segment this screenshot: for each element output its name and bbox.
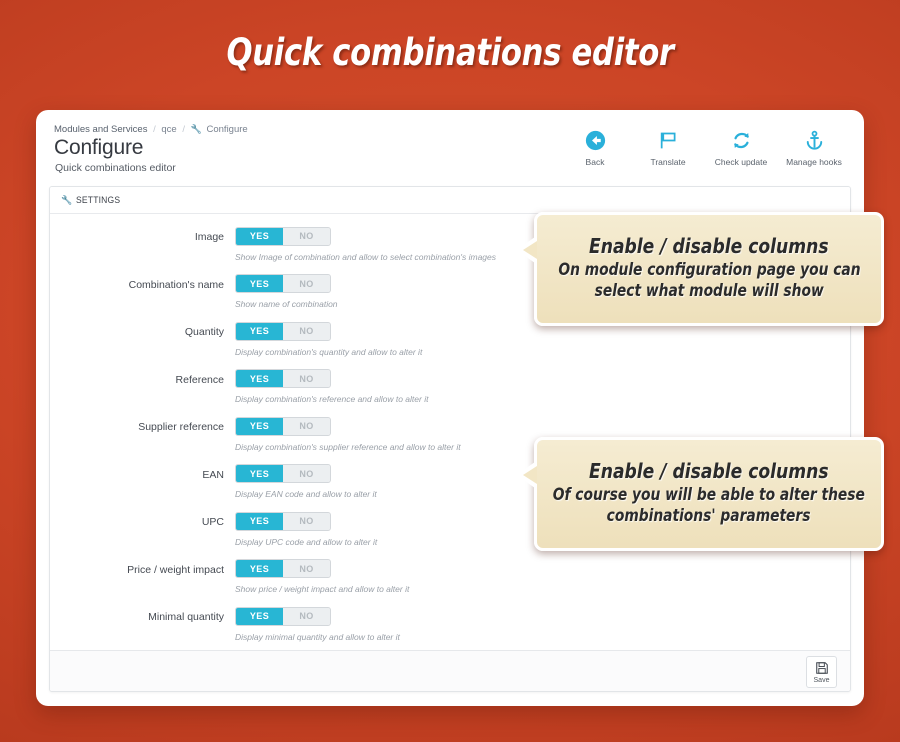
setting-label: Image <box>50 226 235 243</box>
setting-control: YES NO Display combination's reference a… <box>235 369 428 405</box>
save-button[interactable]: Save <box>806 656 837 688</box>
callout-line-1: Of course you will be able to alter thes… <box>553 484 865 505</box>
setting-row-quantity: Quantity YES NO Display combination's qu… <box>50 321 850 369</box>
page-subtitle: Quick combinations editor <box>55 162 176 174</box>
toggle-no-option[interactable]: NO <box>283 370 330 387</box>
breadcrumb-root[interactable]: Modules and Services <box>54 124 147 135</box>
toggle-no-option[interactable]: NO <box>283 560 330 577</box>
toggle-yes-option[interactable]: YES <box>236 608 283 625</box>
setting-row-price-weight-impact: Price / weight impact YES NO Show price … <box>50 559 850 607</box>
toggle-yes-option[interactable]: YES <box>236 370 283 387</box>
setting-control: YES NO Display combination's quantity an… <box>235 321 422 357</box>
setting-hint: Display combination's reference and allo… <box>235 394 428 404</box>
setting-control: YES NO Display UPC code and allow to alt… <box>235 511 377 547</box>
toggle-yes-option[interactable]: YES <box>236 275 283 292</box>
setting-label: Minimal quantity <box>50 606 235 623</box>
back-arrow-circle-icon <box>585 128 606 152</box>
banner: Quick combinations editor <box>0 0 900 104</box>
toggle-supplier-reference[interactable]: YES NO <box>235 417 331 436</box>
toolbar-translate-button[interactable]: Translate <box>640 128 696 167</box>
toolbar-translate-label: Translate <box>650 157 685 167</box>
setting-hint: Display combination's supplier reference… <box>235 442 461 452</box>
toolbar-back-label: Back <box>586 157 605 167</box>
toggle-no-option[interactable]: NO <box>283 513 330 530</box>
breadcrumb: Modules and Services / qce / 🔧 Configure <box>54 124 248 135</box>
setting-hint: Display combination's quantity and allow… <box>235 347 422 357</box>
callout-bubble-columns-alter: Enable / disable columns Of course you w… <box>534 437 884 551</box>
setting-hint: Display UPC code and allow to alter it <box>235 537 377 547</box>
settings-panel-title: SETTINGS <box>76 195 120 205</box>
toggle-no-option[interactable]: NO <box>283 323 330 340</box>
setting-control: YES NO Show Image of combination and all… <box>235 226 496 262</box>
setting-control: YES NO Display minimal quantity and allo… <box>235 606 400 642</box>
setting-hint: Show Image of combination and allow to s… <box>235 252 496 262</box>
callout-line-2: select what module will show <box>594 280 823 301</box>
setting-label: Supplier reference <box>50 416 235 433</box>
settings-panel-header: 🔧 SETTINGS <box>50 187 850 214</box>
toolbar-check-update-label: Check update <box>715 157 767 167</box>
toggle-image[interactable]: YES NO <box>235 227 331 246</box>
app-window-card: Modules and Services / qce / 🔧 Configure… <box>36 110 864 706</box>
refresh-sync-icon <box>731 128 752 152</box>
save-button-label: Save <box>814 677 830 684</box>
callout-line-2: combinations' parameters <box>607 505 811 526</box>
toggle-no-option[interactable]: NO <box>283 228 330 245</box>
setting-row-minimal-quantity: Minimal quantity YES NO Display minimal … <box>50 606 850 654</box>
toggle-yes-option[interactable]: YES <box>236 228 283 245</box>
setting-control: YES NO Display combination's supplier re… <box>235 416 461 452</box>
toolbar-check-update-button[interactable]: Check update <box>713 128 769 167</box>
toggle-upc[interactable]: YES NO <box>235 512 331 531</box>
breadcrumb-separator-2: / <box>182 124 185 135</box>
callout-line-1: On module configuration page you can <box>558 259 860 280</box>
toggle-yes-option[interactable]: YES <box>236 465 283 482</box>
breadcrumb-current: Configure <box>207 124 248 135</box>
setting-hint: Show price / weight impact and allow to … <box>235 584 409 594</box>
toggle-yes-option[interactable]: YES <box>236 513 283 530</box>
setting-label: UPC <box>50 511 235 528</box>
toggle-yes-option[interactable]: YES <box>236 418 283 435</box>
setting-control: YES NO Show name of combination <box>235 274 338 310</box>
toggle-no-option[interactable]: NO <box>283 275 330 292</box>
setting-control: YES NO Show price / weight impact and al… <box>235 559 409 595</box>
setting-hint: Display minimal quantity and allow to al… <box>235 632 400 642</box>
flag-icon <box>658 128 679 152</box>
setting-label: EAN <box>50 464 235 481</box>
toggle-ean[interactable]: YES NO <box>235 464 331 483</box>
wrench-icon: 🔧 <box>191 124 202 134</box>
floppy-disk-icon <box>815 660 829 676</box>
callout-bubble-columns-config: Enable / disable columns On module confi… <box>534 212 884 326</box>
banner-title: Quick combinations editor <box>226 31 673 74</box>
toggle-yes-option[interactable]: YES <box>236 323 283 340</box>
setting-row-reference: Reference YES NO Display combination's r… <box>50 369 850 417</box>
toolbar-back-button[interactable]: Back <box>567 128 623 167</box>
toggle-no-option[interactable]: NO <box>283 465 330 482</box>
toggle-reference[interactable]: YES NO <box>235 369 331 388</box>
wrench-icon: 🔧 <box>61 195 72 206</box>
setting-label: Reference <box>50 369 235 386</box>
setting-label: Price / weight impact <box>50 559 235 576</box>
setting-label: Quantity <box>50 321 235 338</box>
callout-heading: Enable / disable columns <box>589 234 829 259</box>
settings-panel-footer: Save <box>50 650 850 692</box>
toggle-minimal-quantity[interactable]: YES NO <box>235 607 331 626</box>
setting-label: Combination's name <box>50 274 235 291</box>
setting-hint: Show name of combination <box>235 299 338 309</box>
callout-heading: Enable / disable columns <box>589 459 829 484</box>
toggle-yes-option[interactable]: YES <box>236 560 283 577</box>
page-header: Modules and Services / qce / 🔧 Configure… <box>36 110 864 178</box>
page-title: Configure <box>54 136 143 160</box>
toggle-quantity[interactable]: YES NO <box>235 322 331 341</box>
toggle-combination-name[interactable]: YES NO <box>235 274 331 293</box>
anchor-icon <box>804 128 825 152</box>
toggle-no-option[interactable]: NO <box>283 608 330 625</box>
page-toolbar: Back Translate <box>567 128 842 167</box>
breadcrumb-module[interactable]: qce <box>161 124 176 135</box>
toolbar-manage-hooks-label: Manage hooks <box>786 157 842 167</box>
toggle-price-weight-impact[interactable]: YES NO <box>235 559 331 578</box>
setting-control: YES NO Display EAN code and allow to alt… <box>235 464 377 500</box>
toggle-no-option[interactable]: NO <box>283 418 330 435</box>
toolbar-manage-hooks-button[interactable]: Manage hooks <box>786 128 842 167</box>
breadcrumb-separator-1: / <box>153 124 156 135</box>
setting-hint: Display EAN code and allow to alter it <box>235 489 377 499</box>
